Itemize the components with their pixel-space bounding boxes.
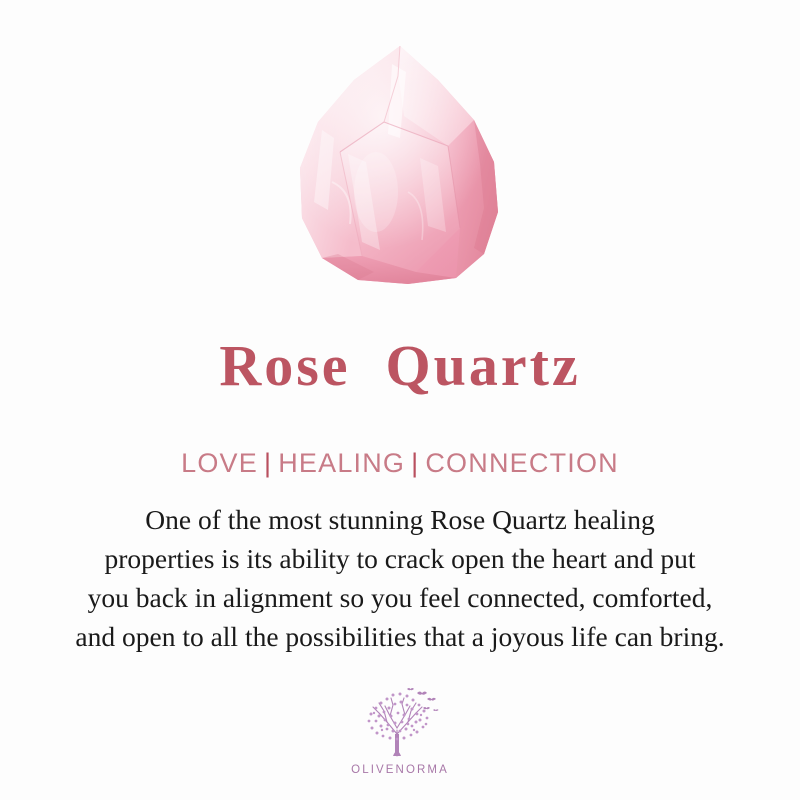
- keyword-love: LOVE: [181, 448, 258, 478]
- tree-of-life-icon: [357, 684, 443, 758]
- keyword-tagline: LOVE|HEALING|CONNECTION: [0, 447, 800, 479]
- tree-trunk: [395, 734, 399, 756]
- description-line-3: you back in alignment so you feel connec…: [30, 578, 770, 617]
- description-paragraph: One of the most stunning Rose Quartz hea…: [30, 500, 770, 656]
- page-title: Rose Quartz: [0, 336, 800, 397]
- description-line-1: One of the most stunning Rose Quartz hea…: [30, 500, 770, 539]
- crystal-highlight-5: [354, 152, 398, 232]
- description-line-4: and open to all the possibilities that a…: [30, 617, 770, 656]
- keyword-healing: HEALING: [278, 448, 405, 478]
- keyword-separator-2: |: [405, 448, 425, 478]
- product-poster: Rose Quartz LOVE|HEALING|CONNECTION One …: [0, 0, 800, 800]
- keyword-separator-1: |: [258, 448, 278, 478]
- brand-name: OLIVENORMA: [351, 764, 449, 776]
- description-line-2: properties is its ability to crack open …: [30, 539, 770, 578]
- rose-quartz-crystal-image: [288, 42, 512, 286]
- brand-logo: OLIVENORMA: [0, 684, 800, 776]
- keyword-connection: CONNECTION: [425, 448, 619, 478]
- crystal-illustration: [288, 42, 512, 286]
